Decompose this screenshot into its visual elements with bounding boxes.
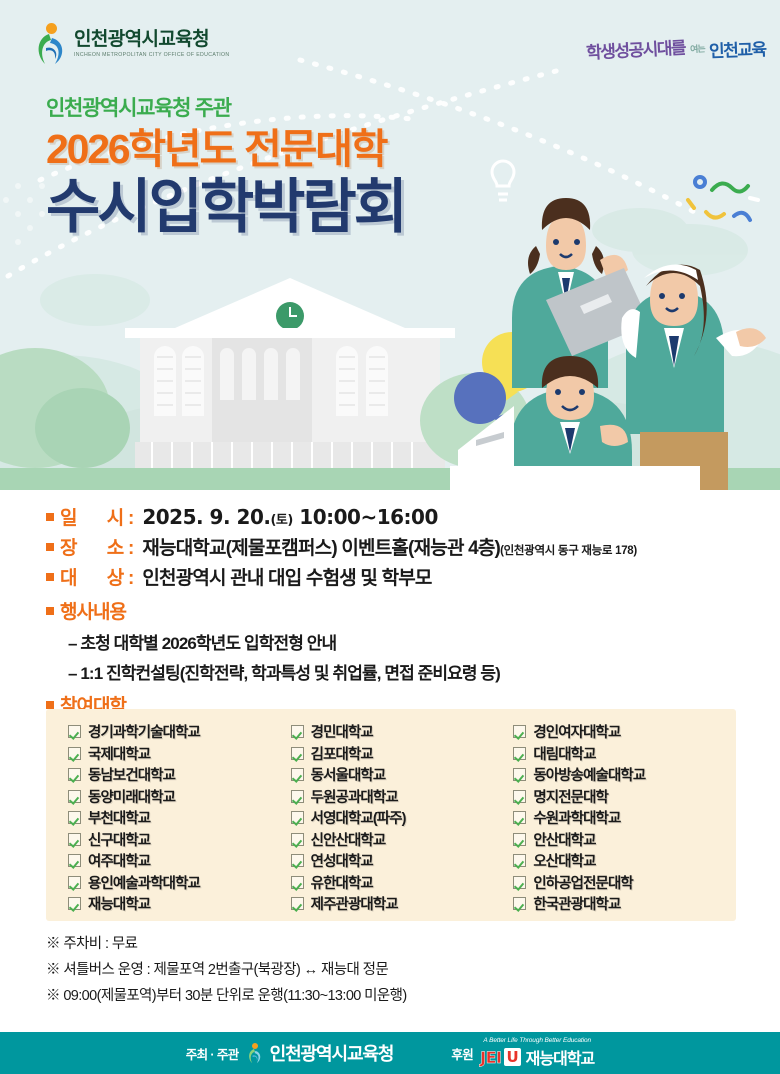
list-item: 대림대학교 bbox=[513, 743, 736, 765]
checkbox-icon bbox=[68, 768, 81, 781]
list-item: 신구대학교 bbox=[68, 829, 291, 851]
organizer-group: 주최 · 주관 인천광역시교육청 bbox=[186, 1040, 394, 1066]
info-value-place: 재능대학교(제물포캠퍼스) 이벤트홀(재능관 4층)(인천광역시 동구 재능로 … bbox=[142, 533, 637, 560]
checkbox-icon bbox=[291, 747, 304, 760]
program-section-header: 행사내용 bbox=[46, 597, 746, 624]
colon-separator: : bbox=[128, 538, 134, 560]
list-item: 경기과학기술대학교 bbox=[68, 721, 291, 743]
tree-decoration bbox=[35, 388, 130, 468]
info-value-date: 2025. 9. 20.(토) 10:00~16:00 bbox=[142, 505, 438, 529]
checkbox-icon bbox=[513, 768, 526, 781]
bullet-square-icon bbox=[46, 701, 54, 709]
footnote-item: ※ 09:00(제물포역)부터 30분 단위로 운행(11:30~13:00 미… bbox=[46, 984, 407, 1005]
sponsor-group: 후원 A Better Life Through Better Educatio… bbox=[451, 1037, 594, 1069]
checkbox-icon bbox=[68, 747, 81, 760]
info-value-target: 인천광역시 관내 대입 수험생 및 학부모 bbox=[142, 563, 431, 590]
list-item: 제주관광대학교 bbox=[291, 893, 514, 915]
list-item: 국제대학교 bbox=[68, 743, 291, 765]
list-item: 동서울대학교 bbox=[291, 764, 514, 786]
sponsor-name: 재능대학교 bbox=[526, 1045, 595, 1069]
list-item: 명지전문대학 bbox=[513, 786, 736, 808]
tagline-part3: 인천교육 bbox=[709, 35, 766, 62]
host-line: 인천광역시교육청 주관 bbox=[46, 92, 405, 122]
weekday-sup: (토) bbox=[270, 513, 292, 528]
sponsor-tagline: A Better Life Through Better Education bbox=[483, 1037, 591, 1044]
logo-english-text: INCHEON METROPOLITAN CITY OFFICE OF EDUC… bbox=[74, 52, 230, 58]
venue-address: (인천광역시 동구 재능로 178) bbox=[500, 545, 637, 557]
building-arch-window bbox=[242, 348, 256, 400]
colon-separator: : bbox=[128, 508, 134, 530]
building-arch-window bbox=[264, 348, 278, 400]
sponsor-brand-u: U bbox=[504, 1048, 520, 1066]
checkbox-icon bbox=[513, 897, 526, 910]
list-item: 연성대학교 bbox=[291, 850, 514, 872]
list-item: 오산대학교 bbox=[513, 850, 736, 872]
list-item: 한국관광대학교 bbox=[513, 893, 736, 915]
checkbox-icon bbox=[513, 811, 526, 824]
checkbox-icon bbox=[291, 833, 304, 846]
sponsor-label: 후원 bbox=[451, 1044, 473, 1063]
list-item: 부천대학교 bbox=[68, 807, 291, 829]
students-group-illustration bbox=[450, 150, 780, 490]
checkbox-icon bbox=[291, 897, 304, 910]
campaign-tagline: 학생성공시대를 여는 인천교육 bbox=[586, 30, 766, 66]
bullet-square-icon bbox=[46, 607, 54, 615]
bullet-square-icon bbox=[46, 543, 54, 551]
program-title: 행사내용 bbox=[60, 597, 126, 624]
jeiu-logo: A Better Life Through Better Education J… bbox=[480, 1037, 594, 1069]
building-column bbox=[366, 346, 388, 416]
checkbox-icon bbox=[513, 790, 526, 803]
incheon-education-swirl-icon bbox=[246, 1043, 263, 1064]
university-column-3: 경인여자대학교 대림대학교 동아방송예술대학교 명지전문대학 수원과학대학교 안… bbox=[513, 721, 736, 921]
checkbox-icon bbox=[291, 790, 304, 803]
list-item: 용인예술과학대학교 bbox=[68, 872, 291, 894]
organizer-label: 주최 · 주관 bbox=[186, 1044, 239, 1063]
list-item: 두원공과대학교 bbox=[291, 786, 514, 808]
list-item: 수원과학대학교 bbox=[513, 807, 736, 829]
tagline-part2: 여는 bbox=[690, 41, 705, 55]
info-row-target: 대 상 : 인천광역시 관내 대입 수험생 및 학부모 bbox=[46, 563, 746, 590]
program-item: – 1:1 진학컨설팅(진학전략, 학과특성 및 취업률, 면접 준비요령 등) bbox=[68, 659, 746, 684]
building-arch-window bbox=[220, 348, 234, 400]
year-line: 2026학년도 전문대학 bbox=[46, 127, 405, 172]
info-label-target: 대 상 bbox=[60, 563, 128, 590]
checkbox-icon bbox=[291, 811, 304, 824]
checkbox-icon bbox=[291, 768, 304, 781]
list-item: 동남보건대학교 bbox=[68, 764, 291, 786]
list-item: 안산대학교 bbox=[513, 829, 736, 851]
student-figure-right bbox=[621, 265, 766, 490]
lightbulb-icon bbox=[492, 161, 514, 200]
poster-footer: 주최 · 주관 인천광역시교육청 후원 A Better Life Throug… bbox=[0, 1032, 780, 1074]
building-column bbox=[182, 346, 204, 416]
desk-surface bbox=[450, 466, 700, 490]
checkbox-icon bbox=[68, 833, 81, 846]
page-title: 수시입학박람회 bbox=[46, 174, 405, 240]
colon-separator: : bbox=[128, 568, 134, 590]
list-item: 동양미래대학교 bbox=[68, 786, 291, 808]
list-item: 신안산대학교 bbox=[291, 829, 514, 851]
tagline-part1: 학생성공시대를 bbox=[585, 33, 685, 63]
building-column bbox=[336, 346, 358, 416]
event-info-list: 일 시 : 2025. 9. 20.(토) 10:00~16:00 장 소 : … bbox=[46, 503, 746, 718]
checkbox-icon bbox=[68, 811, 81, 824]
info-row-date: 일 시 : 2025. 9. 20.(토) 10:00~16:00 bbox=[46, 503, 746, 530]
checkbox-icon bbox=[513, 854, 526, 867]
clock-icon bbox=[276, 302, 304, 330]
footnote-item: ※ 주차비 : 무료 bbox=[46, 932, 407, 953]
building-fence bbox=[135, 442, 445, 468]
university-column-1: 경기과학기술대학교 국제대학교 동남보건대학교 동양미래대학교 부천대학교 신구… bbox=[68, 721, 291, 921]
checkbox-icon bbox=[513, 876, 526, 889]
logo-korean-text: 인천광역시교육청 bbox=[74, 30, 230, 50]
incheon-education-swirl-icon bbox=[33, 22, 67, 66]
participating-universities-box: 경기과학기술대학교 국제대학교 동남보건대학교 동양미래대학교 부천대학교 신구… bbox=[46, 709, 736, 921]
program-item: – 초청 대학별 2026학년도 입학전형 안내 bbox=[68, 629, 746, 654]
list-item: 동아방송예술대학교 bbox=[513, 764, 736, 786]
list-item: 경인여자대학교 bbox=[513, 721, 736, 743]
poster-root: 인천광역시교육청 INCHEON METROPOLITAN CITY OFFIC… bbox=[0, 0, 780, 1074]
building-cornice bbox=[125, 328, 455, 338]
bullet-square-icon bbox=[46, 573, 54, 581]
building-column bbox=[154, 346, 176, 416]
footnote-item: ※ 셔틀버스 운영 : 제물포역 2번출구(북광장) ↔ 재능대 정문 bbox=[46, 958, 407, 979]
building-arch-window bbox=[286, 348, 300, 400]
info-label-place: 장 소 bbox=[60, 533, 128, 560]
checkbox-icon bbox=[68, 725, 81, 738]
checkbox-icon bbox=[291, 876, 304, 889]
checkbox-icon bbox=[68, 854, 81, 867]
school-building-illustration bbox=[140, 278, 440, 468]
university-column-2: 경민대학교 김포대학교 동서울대학교 두원공과대학교 서영대학교(파주) 신안산… bbox=[291, 721, 514, 921]
footnotes: ※ 주차비 : 무료 ※ 셔틀버스 운영 : 제물포역 2번출구(북광장) ↔ … bbox=[46, 932, 407, 1010]
poster-title-block: 인천광역시교육청 주관 2026학년도 전문대학 수시입학박람회 bbox=[46, 92, 405, 240]
checkbox-icon bbox=[68, 790, 81, 803]
checkbox-icon bbox=[68, 897, 81, 910]
list-item: 김포대학교 bbox=[291, 743, 514, 765]
list-item: 유한대학교 bbox=[291, 872, 514, 894]
incheon-education-logo: 인천광역시교육청 INCHEON METROPOLITAN CITY OFFIC… bbox=[33, 22, 230, 66]
list-item: 여주대학교 bbox=[68, 850, 291, 872]
bullet-square-icon bbox=[46, 513, 54, 521]
confetti-icon bbox=[688, 177, 758, 220]
list-item: 인하공업전문대학 bbox=[513, 872, 736, 894]
info-row-place: 장 소 : 재능대학교(제물포캠퍼스) 이벤트홀(재능관 4층)(인천광역시 동… bbox=[46, 533, 746, 560]
checkbox-icon bbox=[291, 725, 304, 738]
list-item: 경민대학교 bbox=[291, 721, 514, 743]
checkbox-icon bbox=[513, 747, 526, 760]
hero-section: 인천광역시교육청 INCHEON METROPOLITAN CITY OFFIC… bbox=[0, 0, 780, 490]
organizer-name: 인천광역시교육청 bbox=[270, 1040, 394, 1066]
list-item: 재능대학교 bbox=[68, 893, 291, 915]
checkbox-icon bbox=[513, 833, 526, 846]
checkbox-icon bbox=[68, 876, 81, 889]
checkbox-icon bbox=[513, 725, 526, 738]
info-label-date: 일 시 bbox=[60, 503, 128, 530]
checkbox-icon bbox=[291, 854, 304, 867]
list-item: 서영대학교(파주) bbox=[291, 807, 514, 829]
sponsor-brand: JEI bbox=[480, 1048, 501, 1067]
speech-bubble-icon bbox=[454, 372, 506, 424]
